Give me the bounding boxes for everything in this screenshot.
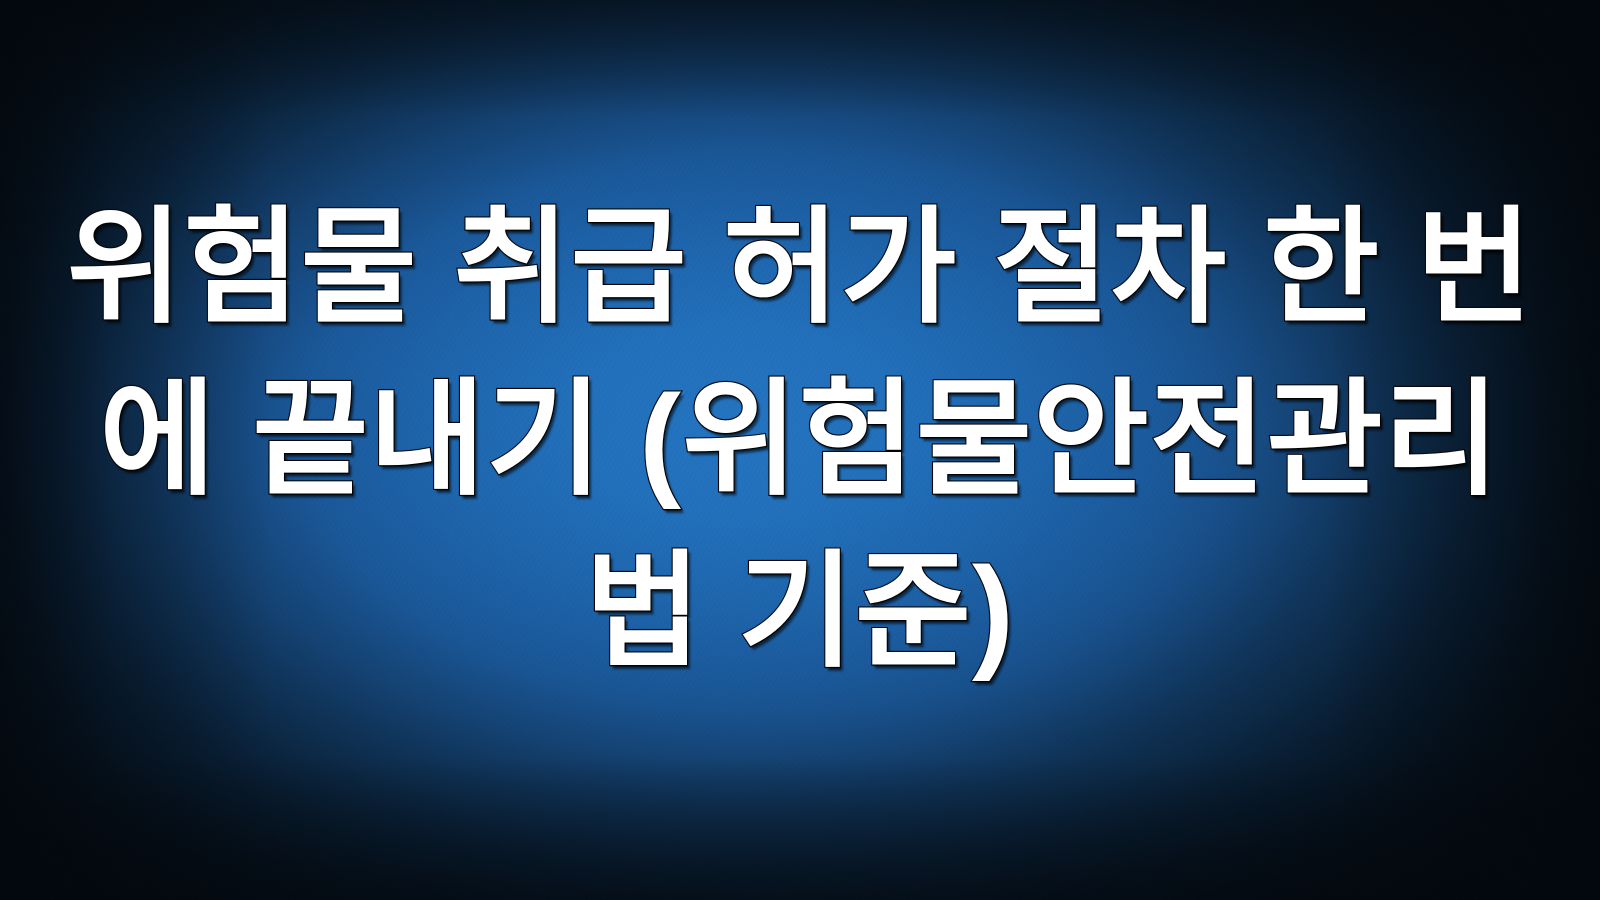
slide-title-line-2: 에 끝내기 (위험물안전관리 <box>65 354 1535 526</box>
slide-title-block: 위험물 취급 허가 절차 한 번 에 끝내기 (위험물안전관리 법 기준) <box>0 0 1600 900</box>
slide-title-line-3: 법 기준) <box>65 526 1535 698</box>
title-slide: 위험물 취급 허가 절차 한 번 에 끝내기 (위험물안전관리 법 기준) <box>0 0 1600 900</box>
slide-title-line-1: 위험물 취급 허가 절차 한 번 <box>65 182 1535 354</box>
